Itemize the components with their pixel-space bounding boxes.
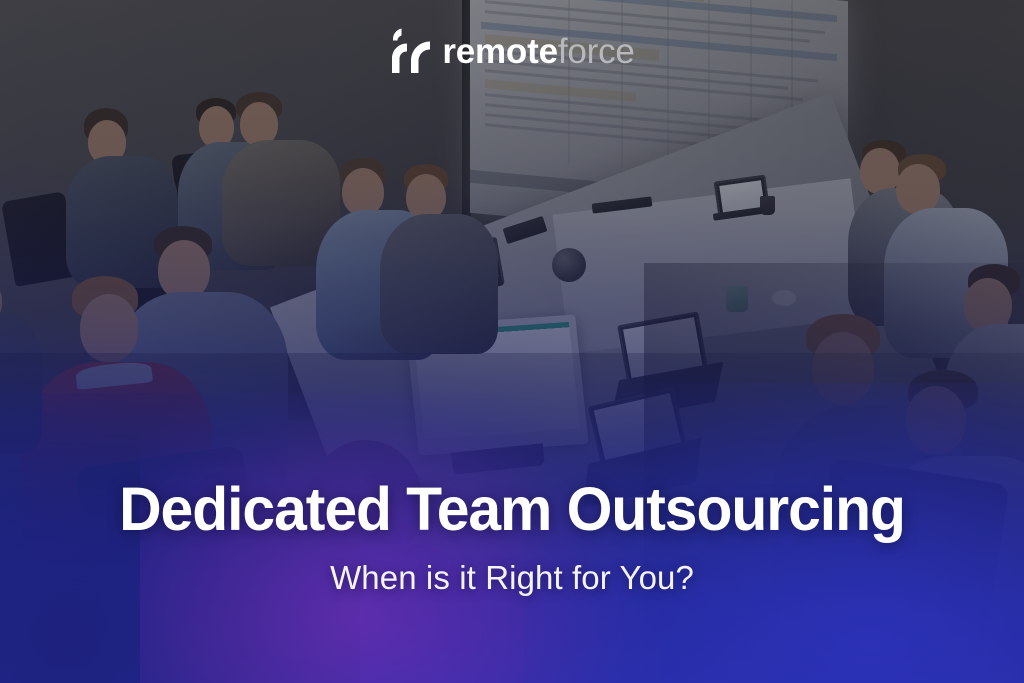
hero-banner: remoteforce Dedicated Team Outsourcing W… (0, 0, 1024, 683)
remoteforce-signal-arcs-icon (389, 28, 431, 74)
headline-block: Dedicated Team Outsourcing When is it Ri… (0, 478, 1024, 597)
logo-wordmark: remoteforce (442, 34, 634, 69)
brand-logo[interactable]: remoteforce (0, 28, 1024, 74)
logo-word-remote: remote (442, 32, 558, 71)
page-subtitle: When is it Right for You? (0, 560, 1024, 596)
page-title: Dedicated Team Outsourcing (18, 478, 1006, 540)
logo-word-force: force (558, 32, 635, 71)
